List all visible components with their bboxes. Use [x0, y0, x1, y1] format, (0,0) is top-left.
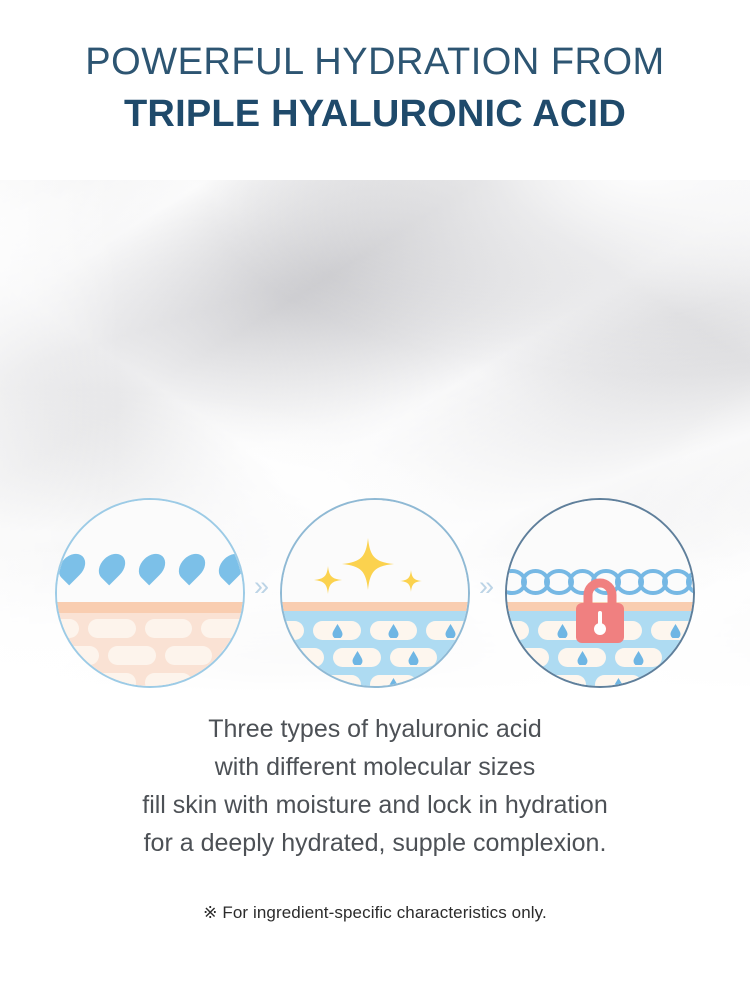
- step-separator-1-icon: »: [254, 573, 266, 600]
- header: POWERFUL HYDRATION FROM TRIPLE HYALURONI…: [0, 0, 750, 180]
- step-1-moisture-delivery: [55, 498, 245, 688]
- hydration-steps-diagram: »: [0, 495, 750, 695]
- description-text: Three types of hyaluronic acid with diff…: [0, 710, 750, 862]
- step-separator-2-icon: »: [479, 573, 491, 600]
- step-2-moisture-filling: [280, 498, 470, 688]
- page-title-line-1: POWERFUL HYDRATION FROM: [85, 41, 664, 85]
- step-1-air-area: [57, 500, 243, 602]
- description-line-4: for a deeply hydrated, supple complexion…: [0, 824, 750, 862]
- description-line-1: Three types of hyaluronic acid: [0, 710, 750, 748]
- step-2-skin-cells: [282, 611, 468, 686]
- footnote-disclaimer: ※ For ingredient-specific characteristic…: [0, 903, 750, 923]
- description-line-3: fill skin with moisture and lock in hydr…: [0, 786, 750, 824]
- step-2-skin-surface: [282, 602, 468, 610]
- step-1-skin-cells: [57, 613, 243, 686]
- description-line-2: with different molecular sizes: [0, 748, 750, 786]
- padlock-icon: [568, 571, 632, 645]
- step-1-skin-surface: [57, 602, 243, 613]
- step-3-moisture-lock: [505, 498, 695, 688]
- page-title-line-2: TRIPLE HYALURONIC ACID: [124, 91, 626, 139]
